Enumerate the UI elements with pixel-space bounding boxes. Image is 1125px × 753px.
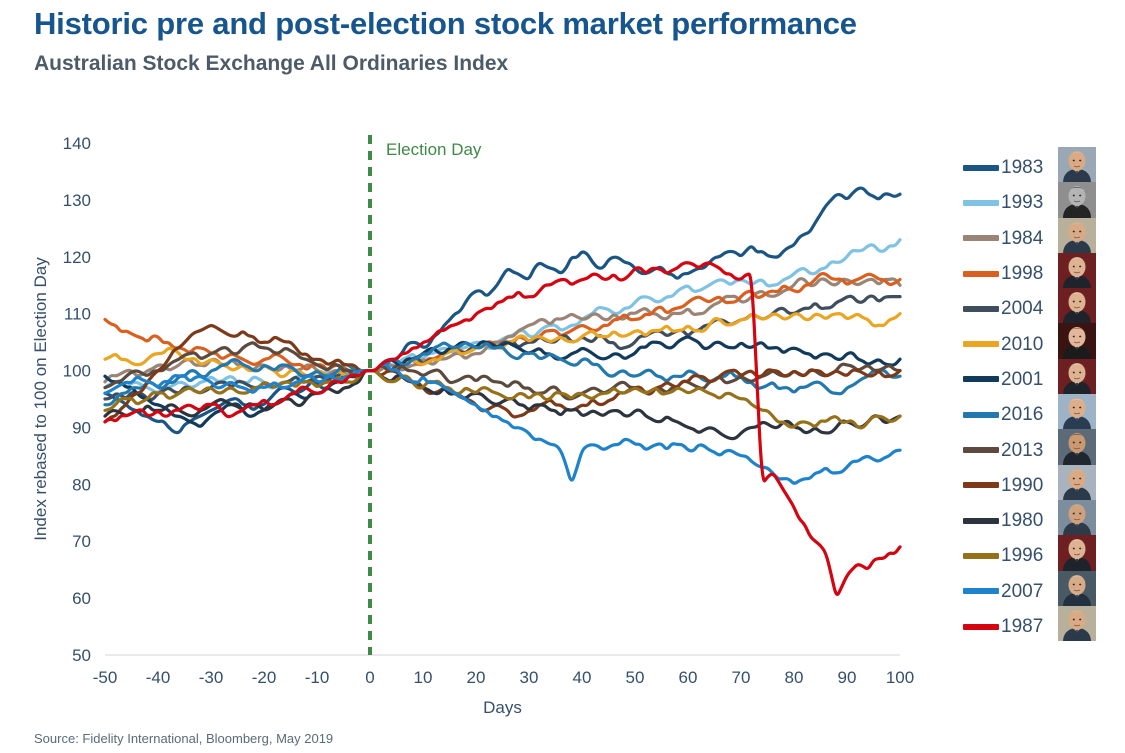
- legend-item-2016[interactable]: 2016: [963, 397, 1063, 432]
- legend-label: 1983: [1001, 158, 1043, 177]
- legend-item-1990[interactable]: 1990: [963, 468, 1063, 503]
- legend-swatch-2016: [963, 412, 999, 418]
- legend-swatch-1998: [963, 271, 999, 277]
- x-tick-label: -40: [146, 668, 171, 687]
- legend-swatch-2007: [963, 588, 999, 594]
- legend-label: 1984: [1001, 229, 1043, 248]
- chart-container: 5060708090100110120130140-50-40-30-20-10…: [0, 0, 1125, 753]
- legend-label: 1998: [1001, 264, 1043, 283]
- legend-swatch-2004: [963, 306, 999, 312]
- pm-photo-strip: [1058, 147, 1096, 641]
- legend-item-1980[interactable]: 1980: [963, 503, 1063, 538]
- legend-item-1996[interactable]: 1996: [963, 538, 1063, 573]
- legend-label: 2013: [1001, 441, 1043, 460]
- line-chart: 5060708090100110120130140-50-40-30-20-10…: [0, 0, 1125, 753]
- x-tick-label: 70: [732, 668, 751, 687]
- legend-label: 2007: [1001, 582, 1043, 601]
- x-tick-label: -20: [252, 668, 277, 687]
- x-tick-label: -10: [305, 668, 330, 687]
- pm-photo-2004: [1058, 288, 1096, 323]
- pm-photo-2013: [1058, 429, 1096, 464]
- pm-photo-1980: [1058, 500, 1096, 535]
- y-tick-label: 70: [72, 532, 91, 551]
- pm-photo-1987: [1058, 606, 1096, 641]
- x-tick-label: 50: [626, 668, 645, 687]
- legend-item-1998[interactable]: 1998: [963, 256, 1063, 291]
- y-tick-label: 90: [72, 418, 91, 437]
- legend-swatch-2010: [963, 341, 999, 347]
- legend-swatch-1996: [963, 553, 999, 559]
- legend-label: 1996: [1001, 546, 1043, 565]
- y-tick-label: 140: [63, 134, 91, 153]
- legend-label: 2001: [1001, 370, 1043, 389]
- x-tick-label: 90: [838, 668, 857, 687]
- pm-photo-1998: [1058, 253, 1096, 288]
- pm-photo-1990: [1058, 465, 1096, 500]
- legend-item-1983[interactable]: 1983: [963, 150, 1063, 185]
- legend-item-2013[interactable]: 2013: [963, 432, 1063, 467]
- legend-label: 2004: [1001, 299, 1043, 318]
- y-tick-label: 50: [72, 646, 91, 665]
- chart-legend: 1983199319841998200420102001201620131990…: [963, 150, 1063, 644]
- legend-swatch-1993: [963, 200, 999, 206]
- legend-label: 1980: [1001, 511, 1043, 530]
- legend-item-2004[interactable]: 2004: [963, 291, 1063, 326]
- source-note: Source: Fidelity International, Bloomber…: [34, 731, 333, 746]
- legend-item-1987[interactable]: 1987: [963, 609, 1063, 644]
- x-tick-label: 40: [573, 668, 592, 687]
- legend-item-2007[interactable]: 2007: [963, 574, 1063, 609]
- x-tick-label: -50: [93, 668, 118, 687]
- pm-photo-1993: [1058, 182, 1096, 217]
- y-tick-label: 120: [63, 248, 91, 267]
- y-axis-title: Index rebased to 100 on Election Day: [31, 257, 50, 541]
- legend-label: 1990: [1001, 476, 1043, 495]
- legend-swatch-1980: [963, 518, 999, 524]
- series-line-1998: [105, 274, 900, 372]
- chart-annotations: Election Day: [370, 135, 482, 655]
- x-tick-label: 10: [414, 668, 433, 687]
- x-tick-label: 30: [520, 668, 539, 687]
- legend-label: 2010: [1001, 335, 1043, 354]
- legend-label: 2016: [1001, 405, 1043, 424]
- x-tick-label: 0: [365, 668, 374, 687]
- pm-photo-1984: [1058, 218, 1096, 253]
- legend-item-1984[interactable]: 1984: [963, 221, 1063, 256]
- election-day-label: Election Day: [386, 140, 482, 159]
- legend-item-2001[interactable]: 2001: [963, 362, 1063, 397]
- legend-swatch-1990: [963, 482, 999, 488]
- legend-item-2010[interactable]: 2010: [963, 326, 1063, 361]
- y-tick-label: 60: [72, 589, 91, 608]
- pm-photo-2016: [1058, 394, 1096, 429]
- pm-photo-2007: [1058, 571, 1096, 606]
- x-tick-label: 60: [679, 668, 698, 687]
- y-tick-label: 110: [64, 305, 91, 324]
- chart-series-lines: [105, 188, 900, 594]
- x-tick-label: -30: [199, 668, 224, 687]
- legend-swatch-1987: [963, 624, 999, 630]
- x-tick-label: 80: [785, 668, 804, 687]
- y-tick-label: 100: [63, 362, 91, 381]
- pm-photo-2010: [1058, 323, 1096, 358]
- legend-swatch-1983: [963, 165, 999, 171]
- y-tick-label: 130: [63, 191, 91, 210]
- x-axis-title: Days: [483, 698, 522, 717]
- series-line-1987: [105, 263, 900, 595]
- pm-photo-1983: [1058, 147, 1096, 182]
- pm-photo-1996: [1058, 535, 1096, 570]
- legend-label: 1987: [1001, 617, 1043, 636]
- y-tick-label: 80: [72, 475, 91, 494]
- x-tick-label: 100: [886, 668, 914, 687]
- legend-label: 1993: [1001, 193, 1043, 212]
- x-tick-label: 20: [467, 668, 486, 687]
- legend-swatch-1984: [963, 235, 999, 241]
- pm-photo-2001: [1058, 359, 1096, 394]
- legend-swatch-2013: [963, 447, 999, 453]
- legend-swatch-2001: [963, 376, 999, 382]
- legend-item-1993[interactable]: 1993: [963, 185, 1063, 220]
